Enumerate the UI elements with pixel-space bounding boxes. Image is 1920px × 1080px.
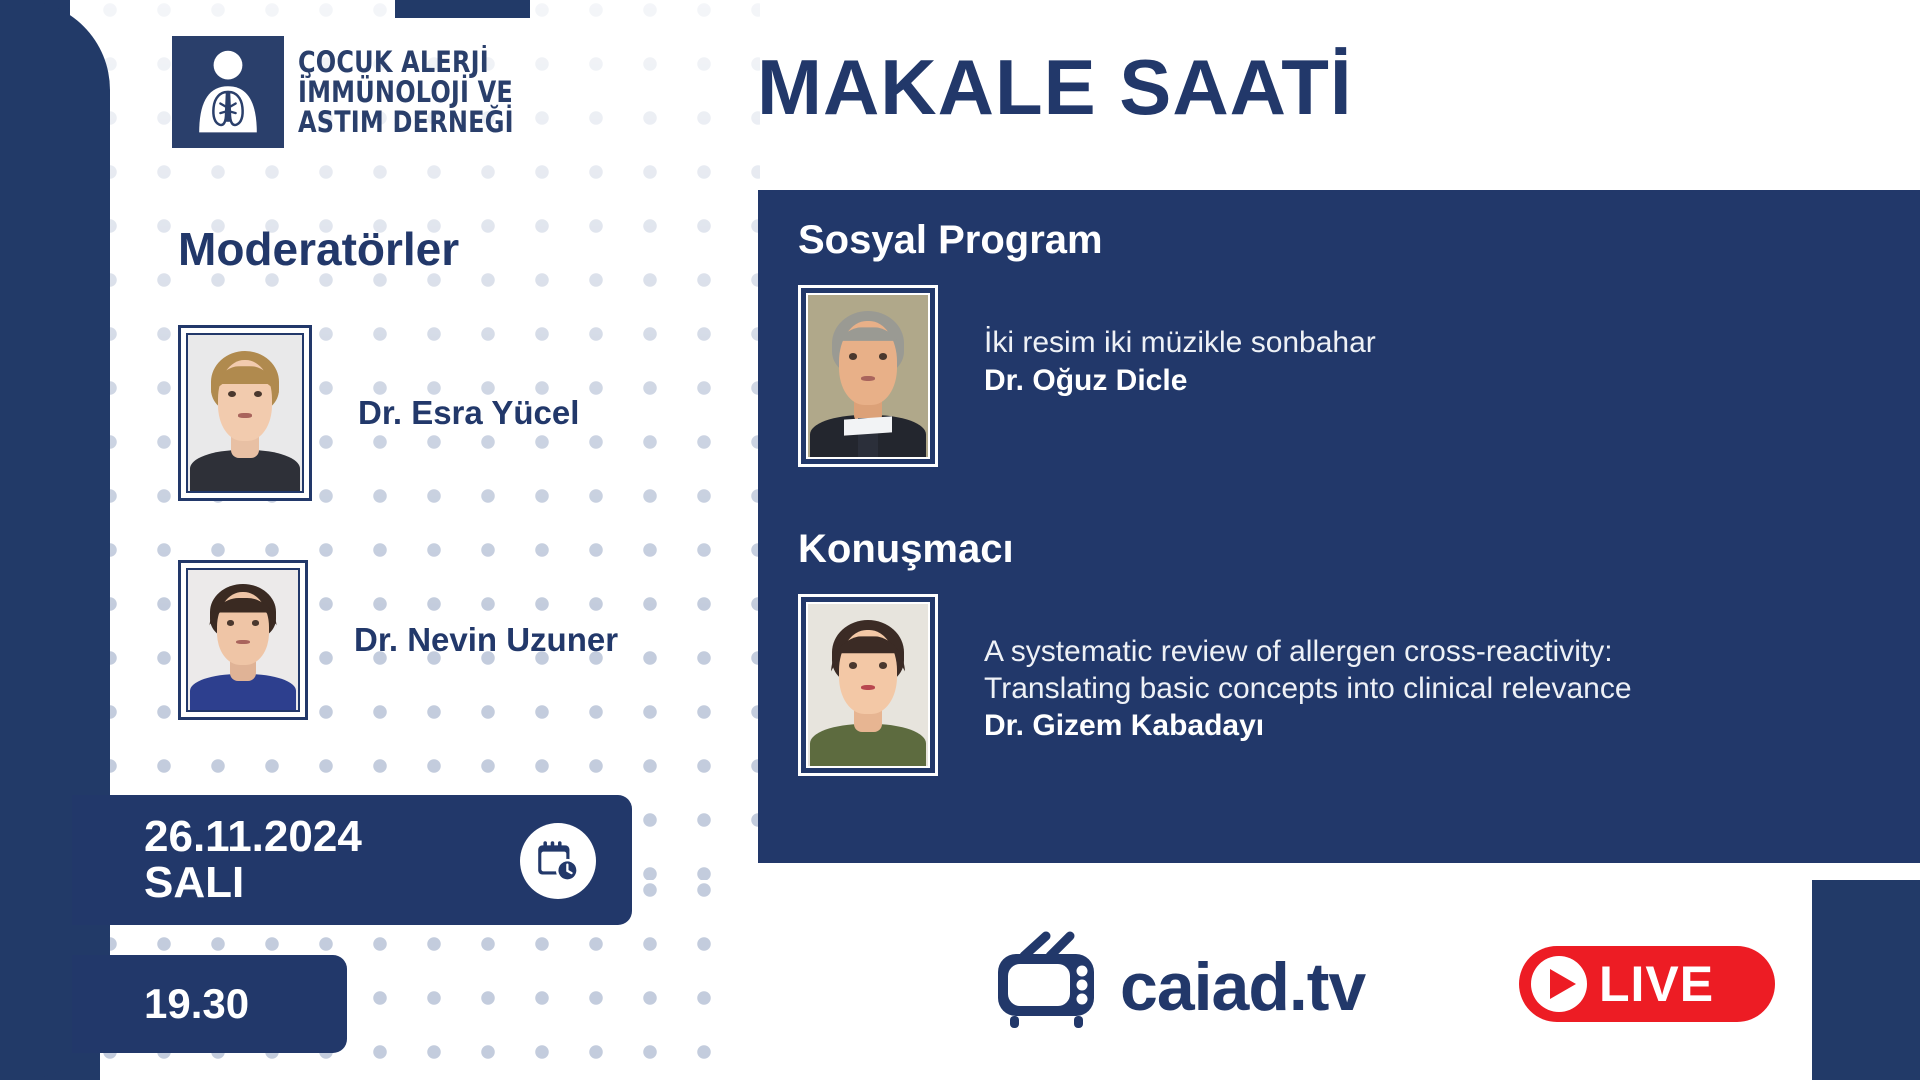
brand-text: caiad.tv bbox=[1120, 948, 1365, 1026]
event-time: 19.30 bbox=[144, 980, 249, 1028]
logo-wordmark: ÇOCUK ALERJİ İMMÜNOLOJİ VE ASTIM DERNEĞİ bbox=[298, 47, 514, 137]
top-notch bbox=[395, 0, 530, 18]
poster-stage: ÇOCUK ALERJİ İMMÜNOLOJİ VE ASTIM DERNEĞİ… bbox=[0, 0, 1920, 1080]
social-program-heading: Sosyal Program bbox=[798, 218, 1920, 263]
logo-line-1: ÇOCUK ALERJİ bbox=[298, 47, 514, 77]
caiad-tv-brand[interactable]: caiad.tv bbox=[990, 930, 1365, 1043]
social-program-speaker: Dr. Oğuz Dicle bbox=[984, 364, 1376, 398]
page-title: MAKALE SAATİ bbox=[757, 42, 1353, 133]
avatar bbox=[178, 325, 312, 501]
calendar-clock-icon bbox=[520, 823, 596, 899]
avatar bbox=[178, 560, 308, 720]
moderators-heading: Moderatörler bbox=[178, 222, 459, 276]
play-icon bbox=[1531, 956, 1587, 1012]
speaker-heading: Konuşmacı bbox=[798, 527, 1920, 572]
live-label: LIVE bbox=[1599, 955, 1714, 1013]
person-lungs-icon bbox=[172, 36, 284, 148]
speaker-name: Dr. Gizem Kabadayı bbox=[984, 709, 1632, 743]
avatar bbox=[798, 594, 938, 776]
association-logo: ÇOCUK ALERJİ İMMÜNOLOJİ VE ASTIM DERNEĞİ bbox=[172, 36, 533, 148]
logo-line-2: İMMÜNOLOJİ VE bbox=[298, 77, 514, 107]
program-panel: Sosyal Program bbox=[758, 190, 1920, 863]
moderator-item-1: Dr. Esra Yücel bbox=[178, 325, 579, 501]
tv-icon bbox=[990, 930, 1110, 1043]
avatar bbox=[798, 285, 938, 467]
event-date: 26.11.2024 SALI bbox=[144, 814, 362, 906]
social-program-talk-title: İki resim iki müzikle sonbahar bbox=[984, 325, 1376, 362]
speaker-talk-title: A systematic review of allergen cross-re… bbox=[984, 634, 1632, 707]
date-badge: 26.11.2024 SALI bbox=[72, 795, 632, 925]
moderator-name: Dr. Nevin Uzuner bbox=[354, 621, 618, 659]
logo-line-3: ASTIM DERNEĞİ bbox=[298, 107, 514, 137]
speaker-entry: A systematic review of allergen cross-re… bbox=[798, 594, 1920, 776]
moderator-name: Dr. Esra Yücel bbox=[358, 394, 579, 432]
moderator-item-2: Dr. Nevin Uzuner bbox=[178, 560, 618, 720]
time-badge: 19.30 bbox=[72, 955, 347, 1053]
social-program-entry: İki resim iki müzikle sonbahar Dr. Oğuz … bbox=[798, 285, 1920, 467]
live-badge[interactable]: LIVE bbox=[1519, 946, 1775, 1022]
